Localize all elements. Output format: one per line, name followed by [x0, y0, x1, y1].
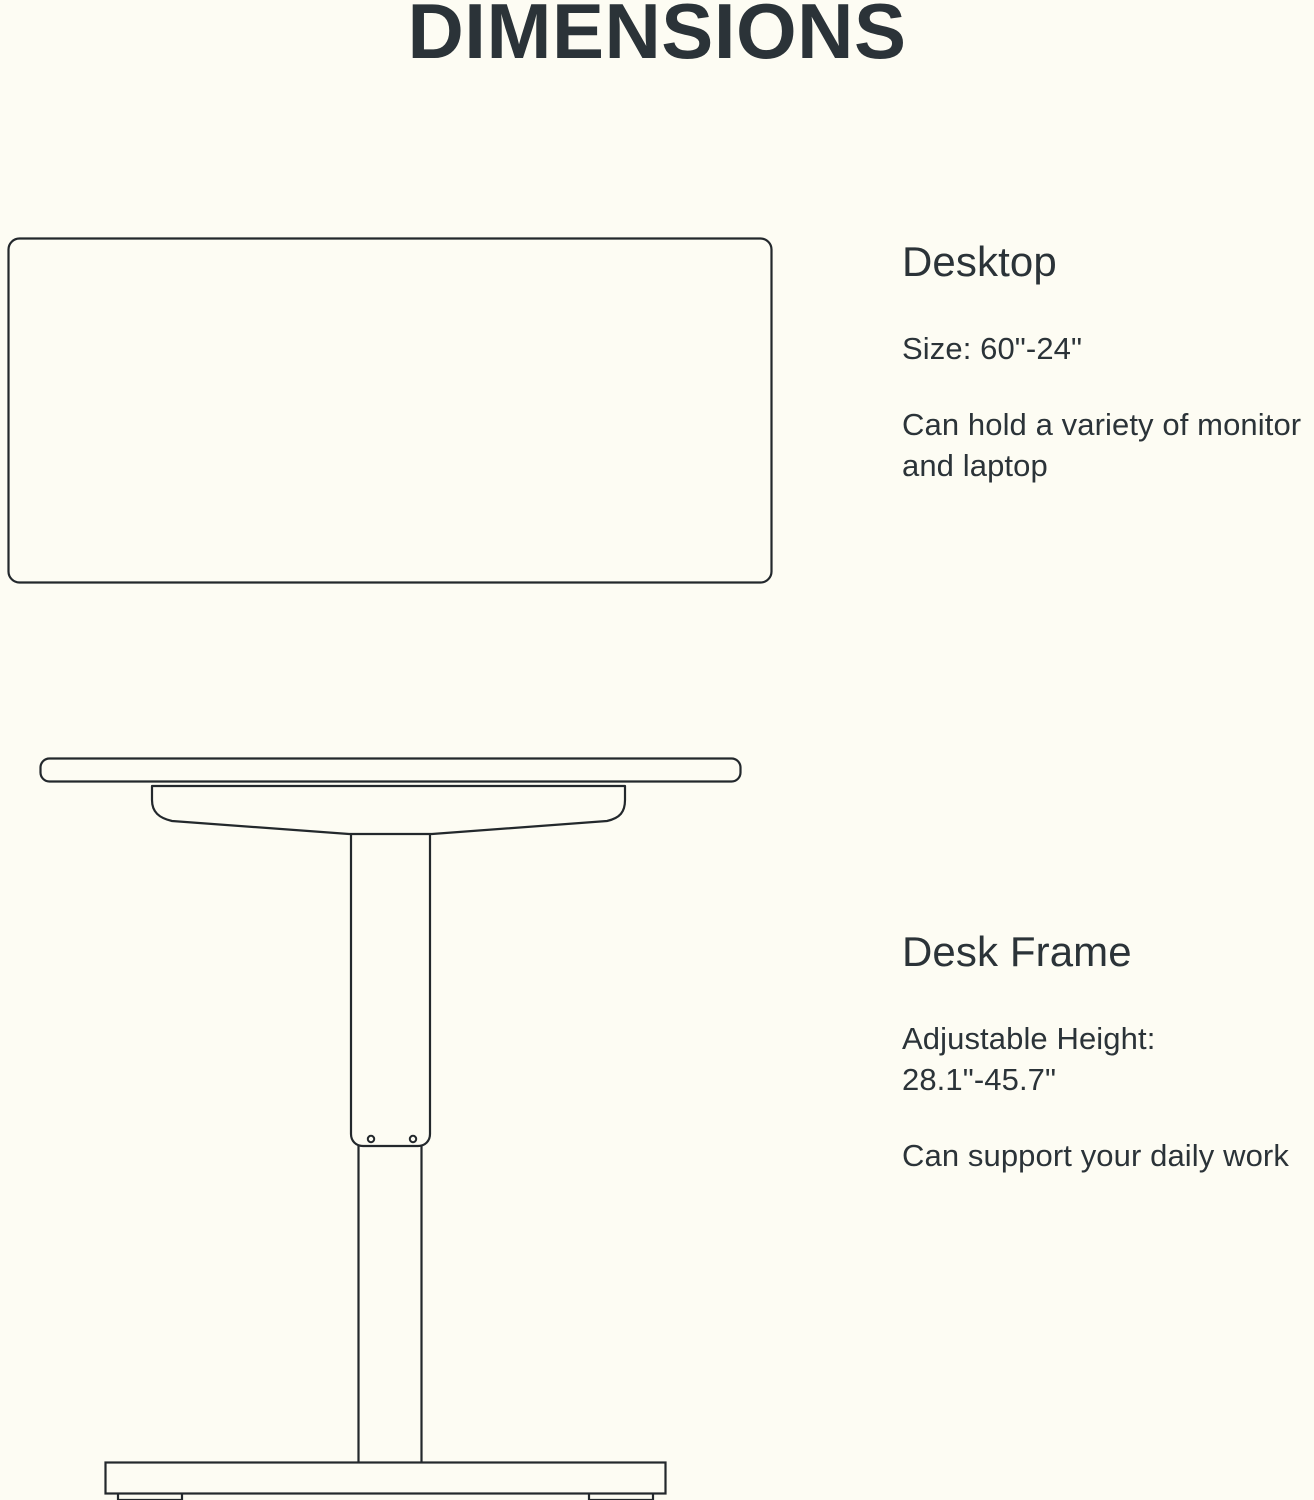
desk-frame-side-view	[41, 759, 741, 1500]
spec-block-desktop: Desktop Size: 60"-24" Can hold a variety…	[902, 238, 1314, 487]
tabletop-slab	[41, 759, 741, 782]
spec-line-frame-height: Adjustable Height: 28.1"-45.7"	[902, 1019, 1314, 1101]
screw-hole-left	[368, 1136, 374, 1142]
screw-hole-right	[410, 1136, 416, 1142]
dimensions-infographic: DIMENSIONS Desktop Size: 60"-24"	[0, 0, 1314, 1500]
spec-heading-desktop: Desktop	[902, 238, 1314, 285]
spec-heading-desk-frame: Desk Frame	[902, 928, 1314, 975]
spec-block-desk-frame: Desk Frame Adjustable Height: 28.1"-45.7…	[902, 928, 1314, 1177]
base-bar	[106, 1463, 666, 1494]
lower-column	[359, 1146, 422, 1463]
technical-drawings	[0, 0, 1314, 1500]
desktop-outline-rect	[9, 239, 772, 583]
upper-column	[351, 835, 430, 1146]
spec-line-desktop-size: Size: 60"-24"	[902, 329, 1314, 370]
spec-line-desktop-capacity: Can hold a variety of monitor and laptop	[902, 405, 1314, 487]
support-bracket	[152, 786, 625, 834]
spec-line-frame-support: Can support your daily work	[902, 1136, 1314, 1177]
